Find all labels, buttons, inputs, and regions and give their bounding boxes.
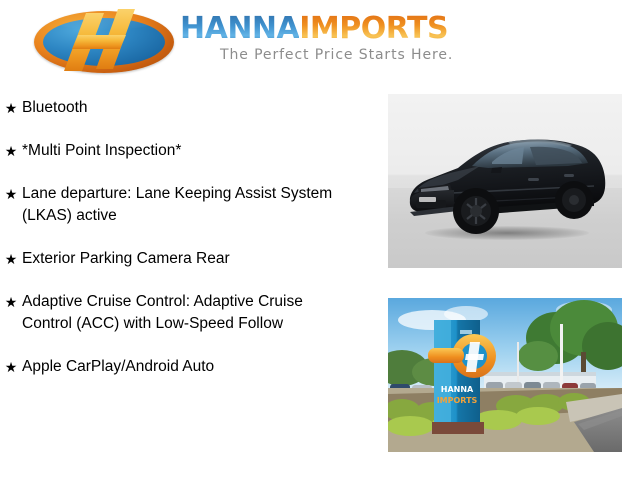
vehicle-photo[interactable] (388, 94, 622, 268)
brand-wordmark: HANNAIMPORTS (180, 12, 520, 46)
star-bullet-icon: ★ (0, 140, 22, 162)
star-bullet-icon: ★ (0, 356, 22, 378)
star-bullet-icon: ★ (0, 291, 22, 313)
brand-tagline: The Perfect Price Starts Here. (180, 47, 520, 63)
list-item: ★ Exterior Parking Camera Rear (0, 248, 372, 270)
star-bullet-icon: ★ (0, 183, 22, 205)
list-item: ★ Bluetooth (0, 97, 372, 119)
vehicle-feature-list: ★ Bluetooth ★ *Multi Point Inspection* ★… (0, 97, 372, 399)
wordmark-imports: IMPORTS (299, 11, 448, 46)
logo-h-letter (34, 7, 174, 77)
wordmark-hanna: HANNA (180, 11, 299, 46)
feature-label: Exterior Parking Camera Rear (22, 248, 230, 270)
sign-text-bottom: IMPORTS (437, 396, 478, 405)
feature-label: Lane departure: Lane Keeping Assist Syst… (22, 183, 352, 227)
feature-label: Bluetooth (22, 97, 88, 119)
brand-header: HANNAIMPORTS The Perfect Price Starts He… (0, 0, 640, 88)
dealership-photo[interactable]: HANNA IMPORTS (388, 298, 622, 452)
vehicle-illustration (388, 94, 622, 268)
list-item: ★ Apple CarPlay/Android Auto (0, 356, 372, 378)
brand-wordmark-block: HANNAIMPORTS The Perfect Price Starts He… (180, 12, 520, 63)
list-item: ★ Adaptive Cruise Control: Adaptive Crui… (0, 291, 372, 335)
list-item: ★ *Multi Point Inspection* (0, 140, 372, 162)
star-bullet-icon: ★ (0, 248, 22, 270)
hanna-h-oval-logo-icon (34, 7, 182, 77)
star-bullet-icon: ★ (0, 97, 22, 119)
feature-label: Adaptive Cruise Control: Adaptive Cruise… (22, 291, 352, 335)
feature-label: Apple CarPlay/Android Auto (22, 356, 214, 378)
feature-label: *Multi Point Inspection* (22, 140, 181, 162)
sign-text-top: HANNA (441, 385, 474, 394)
list-item: ★ Lane departure: Lane Keeping Assist Sy… (0, 183, 372, 227)
dealership-illustration: HANNA IMPORTS (388, 298, 622, 452)
